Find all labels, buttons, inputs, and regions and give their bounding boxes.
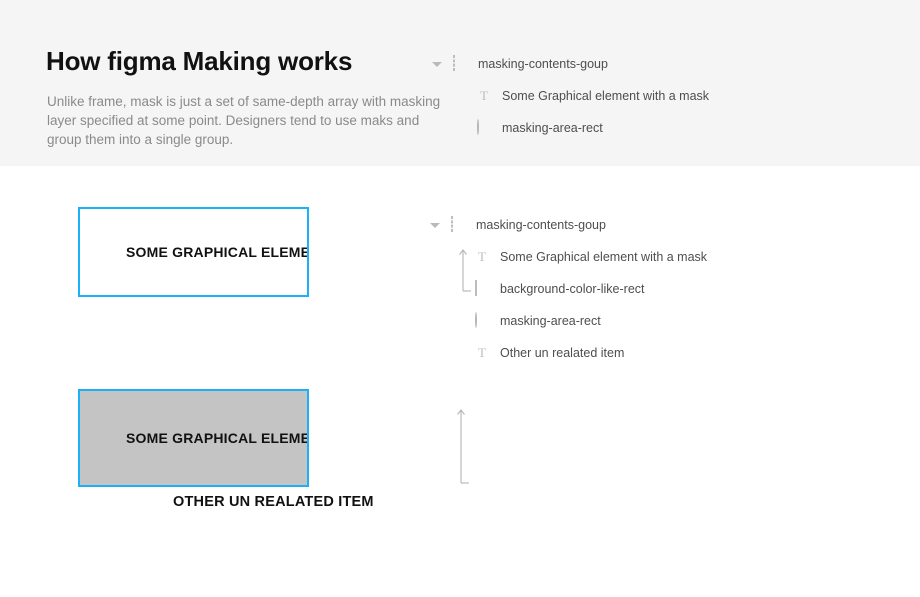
layer-label: masking-contents-goup	[476, 218, 606, 232]
canvas-unrelated-item-label[interactable]: OTHER UN REALATED ITEM	[173, 494, 374, 510]
text-t-icon: T	[474, 345, 490, 361]
layer-row[interactable]: T Some Graphical element with a mask	[428, 241, 707, 273]
mask-circle-icon	[474, 313, 490, 329]
chevron-down-icon[interactable]	[428, 218, 442, 232]
layer-tree-two: masking-contents-goup T Some Graphical e…	[428, 209, 707, 369]
mask-circle-icon	[476, 120, 492, 136]
group-square-icon	[452, 56, 468, 72]
layer-tree-one: masking-contents-goup T Some Graphical e…	[430, 48, 709, 144]
layer-label: masking-contents-goup	[478, 57, 608, 71]
layer-label: background-color-like-rect	[500, 282, 645, 296]
layer-row[interactable]: T Some Graphical element with a mask	[430, 80, 709, 112]
layer-row[interactable]: masking-area-rect	[430, 112, 709, 144]
layer-label: masking-area-rect	[502, 121, 603, 135]
layer-row[interactable]: masking-contents-goup	[428, 209, 707, 241]
page-description: Unlike frame, mask is just a set of same…	[47, 92, 442, 149]
layer-row[interactable]: masking-contents-goup	[430, 48, 709, 80]
layer-label: Some Graphical element with a mask	[502, 89, 709, 103]
rectangle-icon	[474, 281, 490, 297]
artboard-unmasked[interactable]: SOME GRAPHICAL ELEME	[78, 207, 309, 297]
layer-row[interactable]: masking-area-rect	[428, 305, 707, 337]
layer-row[interactable]: T Other un realated item	[428, 337, 707, 369]
artboard-unmasked-label: SOME GRAPHICAL ELEME	[126, 244, 309, 260]
chevron-down-icon[interactable]	[430, 57, 444, 71]
group-square-icon	[450, 217, 466, 233]
page-title: How figma Making works	[46, 46, 352, 77]
layer-label: Some Graphical element with a mask	[500, 250, 707, 264]
artboard-masked[interactable]: SOME GRAPHICAL ELEME	[78, 389, 309, 487]
layer-row[interactable]: background-color-like-rect	[428, 273, 707, 305]
text-t-icon: T	[474, 249, 490, 265]
layer-label: masking-area-rect	[500, 314, 601, 328]
text-t-icon: T	[476, 88, 492, 104]
artboard-masked-label: SOME GRAPHICAL ELEME	[126, 430, 309, 446]
layer-label: Other un realated item	[500, 346, 624, 360]
